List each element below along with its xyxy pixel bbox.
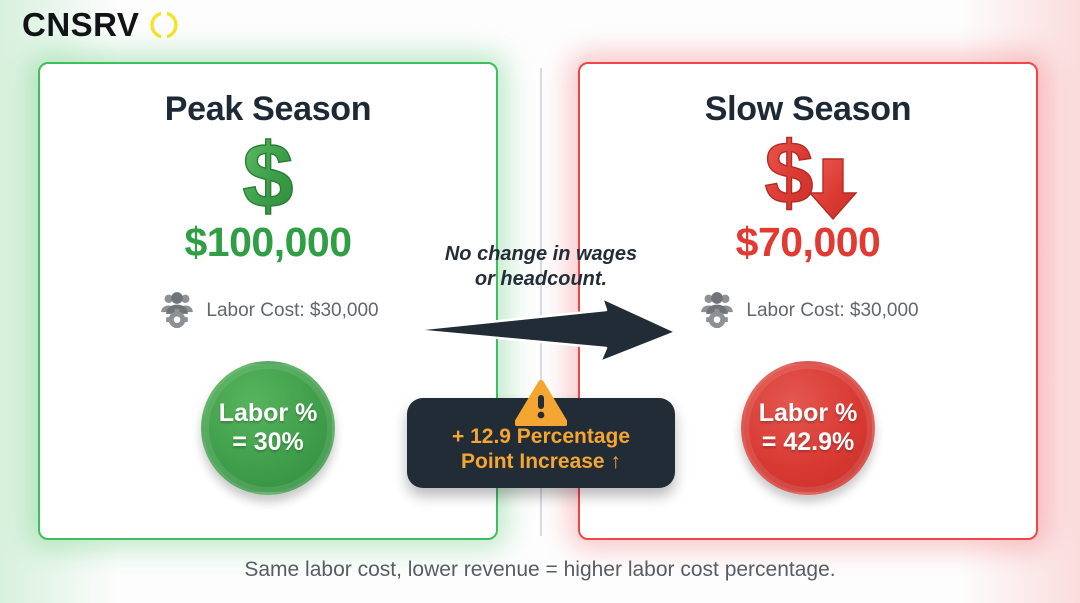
center-note: No change in wages or headcount. <box>408 242 674 292</box>
labor-cost-label: Labor Cost: $30,000 <box>206 300 378 322</box>
infographic-canvas: CNSRV Peak Season $ <box>0 0 1080 603</box>
svg-text:$: $ <box>242 131 293 223</box>
dollar-sign-icon: $ <box>40 131 496 223</box>
labor-cost-label: Labor Cost: $30,000 <box>746 300 918 322</box>
svg-text:$: $ <box>765 131 814 222</box>
warning-triangle-icon <box>515 380 567 426</box>
labor-percent-badge: Labor % = 42.9% <box>741 361 875 495</box>
panel-title: Peak Season <box>40 90 496 129</box>
people-gear-icon <box>157 288 197 333</box>
split-ring-icon <box>149 10 179 40</box>
labor-percent-label: Labor % <box>219 399 318 428</box>
panel-title: Slow Season <box>580 90 1036 129</box>
labor-percent-label: Labor % <box>759 399 858 428</box>
people-gear-icon <box>697 288 737 333</box>
brand-logo: CNSRV <box>22 8 179 41</box>
labor-percent-value: = 30% <box>232 428 304 457</box>
labor-percent-badge: Labor % = 30% <box>201 361 335 495</box>
increase-badge-line-1: + 12.9 Percentage <box>415 424 667 449</box>
right-arrow-icon <box>410 296 678 364</box>
labor-percent-value: = 42.9% <box>762 428 854 457</box>
brand-name: CNSRV <box>22 8 139 41</box>
dollar-sign-down-arrow-icon: $ <box>580 131 1036 223</box>
increase-badge-line-2: Point Increase ↑ <box>415 449 667 474</box>
center-note-line-1: No change in wages <box>408 242 674 267</box>
increase-badge: + 12.9 Percentage Point Increase ↑ <box>407 398 675 488</box>
footer-caption: Same labor cost, lower revenue = higher … <box>0 558 1080 582</box>
center-note-line-2: or headcount. <box>408 267 674 292</box>
